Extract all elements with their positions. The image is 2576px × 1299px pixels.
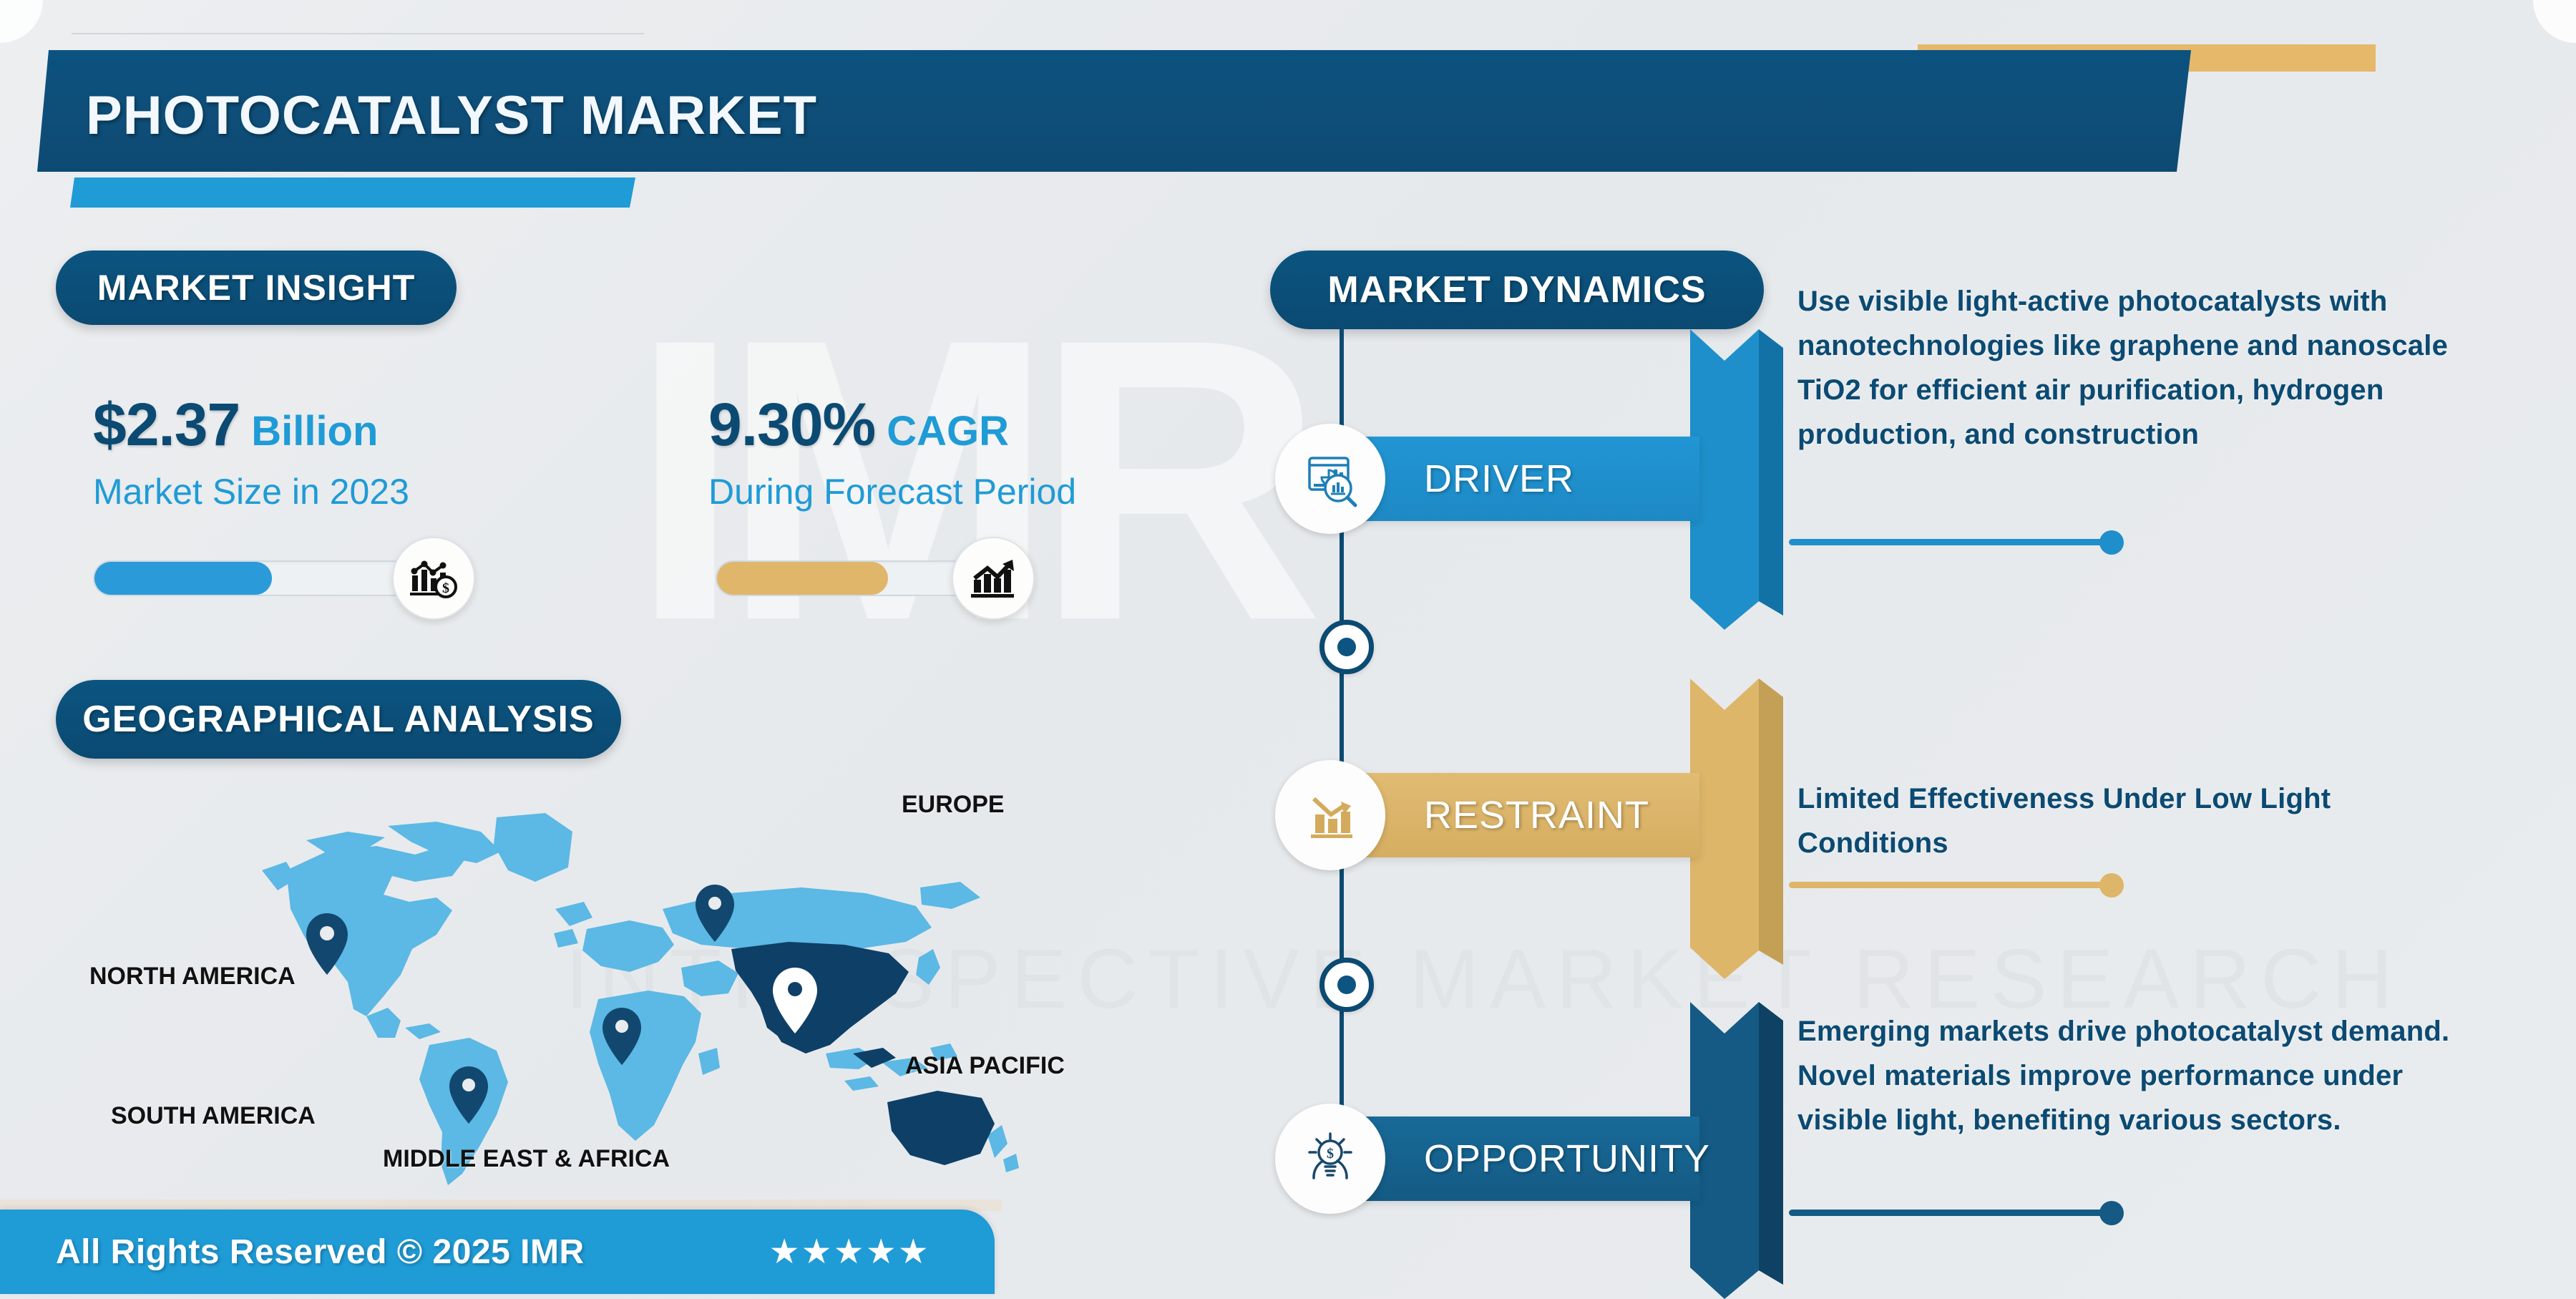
market-dynamics-pill: MARKET DYNAMICS [1270, 250, 1764, 329]
map-label-europe: EUROPE [902, 791, 1005, 819]
opportunity-bar: $ OPPORTUNITY [1317, 1116, 1699, 1201]
kpi-cagr: 9.30% CAGR During Forecast Period [708, 390, 1076, 512]
restraint-rule [1789, 882, 2111, 888]
restraint-bar: RESTRAINT [1317, 773, 1699, 857]
opportunity-dot [2099, 1201, 2124, 1225]
header-accent-bar [70, 177, 635, 208]
driver-label: DRIVER [1424, 457, 1574, 501]
restraint-dot [2099, 873, 2124, 897]
progress-track [93, 560, 436, 596]
kpi-unit: Billion [251, 407, 378, 455]
restraint-text: Limited Effectiveness Under Low Light Co… [1797, 777, 2463, 865]
opportunity-text: Emerging markets drive photocatalyst dem… [1797, 1009, 2463, 1142]
copyright-text: All Rights Reserved © 2025 IMR [56, 1232, 585, 1272]
infographic-page: IMR INTROSPECTIVE MARKET RESEARCH PHOTOC… [0, 0, 2576, 1299]
opportunity-rule [1789, 1210, 2111, 1216]
lightbulb-dollar-icon: $ [1275, 1104, 1385, 1214]
kpi-value: $2.37 [93, 390, 240, 459]
timeline-node-2 [1319, 958, 1374, 1012]
bar-chart-dollar-icon: $ [392, 537, 475, 620]
svg-text:$: $ [442, 580, 449, 596]
driver-dot [2099, 530, 2124, 555]
kpi-unit: CAGR [887, 407, 1009, 455]
driver-ribbon [1690, 329, 1783, 630]
market-size-progress: $ [93, 558, 436, 598]
progress-fill [717, 562, 888, 595]
opportunity-label: OPPORTUNITY [1424, 1137, 1710, 1181]
cagr-progress [716, 558, 995, 598]
map-label-middle-east-africa: MIDDLE EAST & AFRICA [383, 1145, 670, 1173]
kpi-value: 9.30% [708, 390, 875, 459]
geographical-analysis-pill: GEOGRAPHICAL ANALYSIS [56, 680, 621, 759]
map-label-north-america: NORTH AMERICA [89, 963, 296, 991]
corner-decoration-right [2533, 0, 2576, 43]
kpi-caption: Market Size in 2023 [93, 471, 409, 512]
progress-fill [94, 562, 272, 595]
driver-bar: DRIVER [1317, 437, 1699, 521]
restraint-label: RESTRAINT [1424, 793, 1649, 837]
market-insight-pill: MARKET INSIGHT [56, 250, 457, 325]
declining-bar-chart-icon [1275, 760, 1385, 870]
growth-arrow-chart-icon [952, 537, 1035, 620]
dashboard-analysis-icon [1275, 424, 1385, 534]
header-hairline [72, 33, 644, 34]
svg-text:$: $ [1327, 1146, 1334, 1162]
corner-decoration-left [0, 0, 43, 43]
world-map: NORTH AMERICA EUROPE ASIA PACIFIC SOUTH … [200, 802, 1030, 1202]
rating-stars: ★★★★★ [769, 1232, 930, 1272]
page-title: PHOTOCATALYST MARKET [86, 84, 817, 147]
driver-rule [1789, 539, 2111, 545]
driver-text: Use visible light-active photocatalysts … [1797, 279, 2463, 457]
timeline-node-1 [1319, 620, 1374, 674]
map-label-asia-pacific: ASIA PACIFIC [905, 1052, 1065, 1080]
map-label-south-america: SOUTH AMERICA [111, 1102, 316, 1130]
restraint-ribbon [1690, 678, 1783, 979]
kpi-market-size: $2.37 Billion Market Size in 2023 [93, 390, 409, 512]
footer-bar: All Rights Reserved © 2025 IMR ★★★★★ [0, 1210, 995, 1294]
kpi-caption: During Forecast Period [708, 471, 1076, 512]
